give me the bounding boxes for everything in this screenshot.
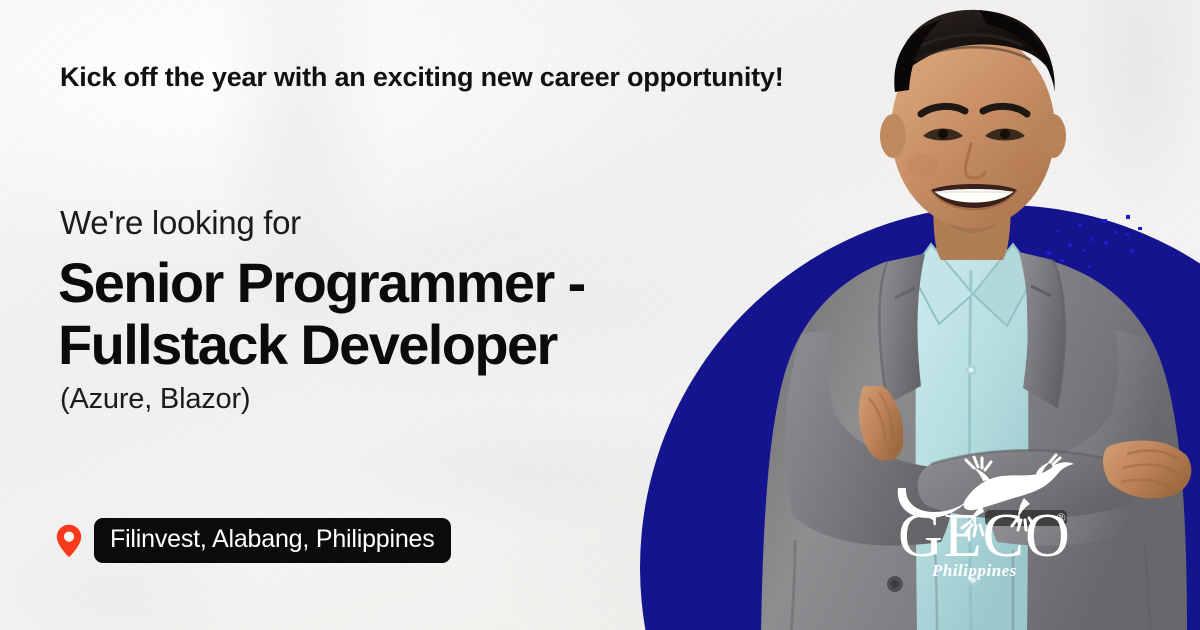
location-badge: Filinvest, Alabang, Philippines	[94, 518, 451, 563]
map-pin-icon	[56, 524, 82, 558]
banner-headline: Kick off the year with an exciting new c…	[60, 62, 784, 93]
eyebrow-text: We're looking for	[60, 204, 301, 242]
geco-wordmark: GECO	[898, 502, 1071, 570]
job-title-line-2: Fullstack Developer	[58, 314, 738, 376]
job-title: Senior Programmer - Fullstack Developer	[58, 252, 738, 376]
geco-logo: GECO ® Philippines	[886, 452, 1082, 582]
logo-region-label: Philippines	[931, 561, 1017, 580]
job-title-line-1: Senior Programmer -	[58, 251, 585, 314]
registered-mark: ®	[1056, 510, 1066, 525]
job-title-subtitle: (Azure, Blazor)	[60, 383, 250, 416]
location-row: Filinvest, Alabang, Philippines	[56, 518, 451, 563]
job-posting-banner: Kick off the year with an exciting new c…	[0, 0, 1200, 630]
